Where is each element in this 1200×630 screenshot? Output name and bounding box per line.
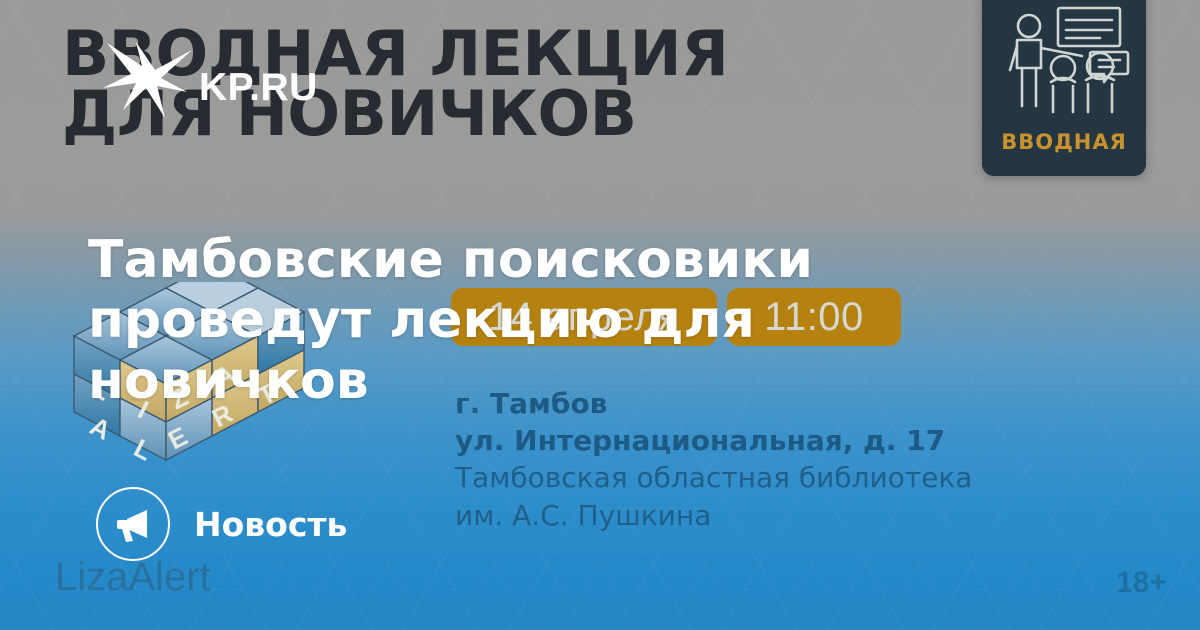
megaphone-icon xyxy=(96,487,170,561)
address-line-venue-name: им. А.С. Пушкина xyxy=(455,497,972,534)
liza-alert-wordmark: LizaAlert xyxy=(55,555,211,600)
lecturer-presentation-icon xyxy=(996,6,1132,131)
news-category-label: Новость xyxy=(194,505,347,544)
poster-canvas: ВВОДНАЯ ЛЕКЦИЯ ДЛЯ НОВИЧКОВ xyxy=(0,0,1200,630)
address-line-street: ул. Интернациональная, д. 17 xyxy=(455,422,972,459)
badge-label: ВВОДНАЯ xyxy=(982,130,1146,154)
article-headline: Тамбовские поисковики проведут лекцию дл… xyxy=(88,230,1048,411)
age-rating-badge: 18+ xyxy=(1116,566,1167,600)
news-category-badge[interactable]: Новость xyxy=(96,487,347,561)
vvodnaya-badge: ВВОДНАЯ xyxy=(982,0,1146,176)
address-line-venue: Тамбовская областная библиотека xyxy=(455,459,972,496)
kp-ru-logo[interactable]: KP.RU xyxy=(95,26,355,126)
kp-ru-wordmark: KP.RU xyxy=(199,66,318,110)
swallow-bird-icon xyxy=(95,26,205,136)
